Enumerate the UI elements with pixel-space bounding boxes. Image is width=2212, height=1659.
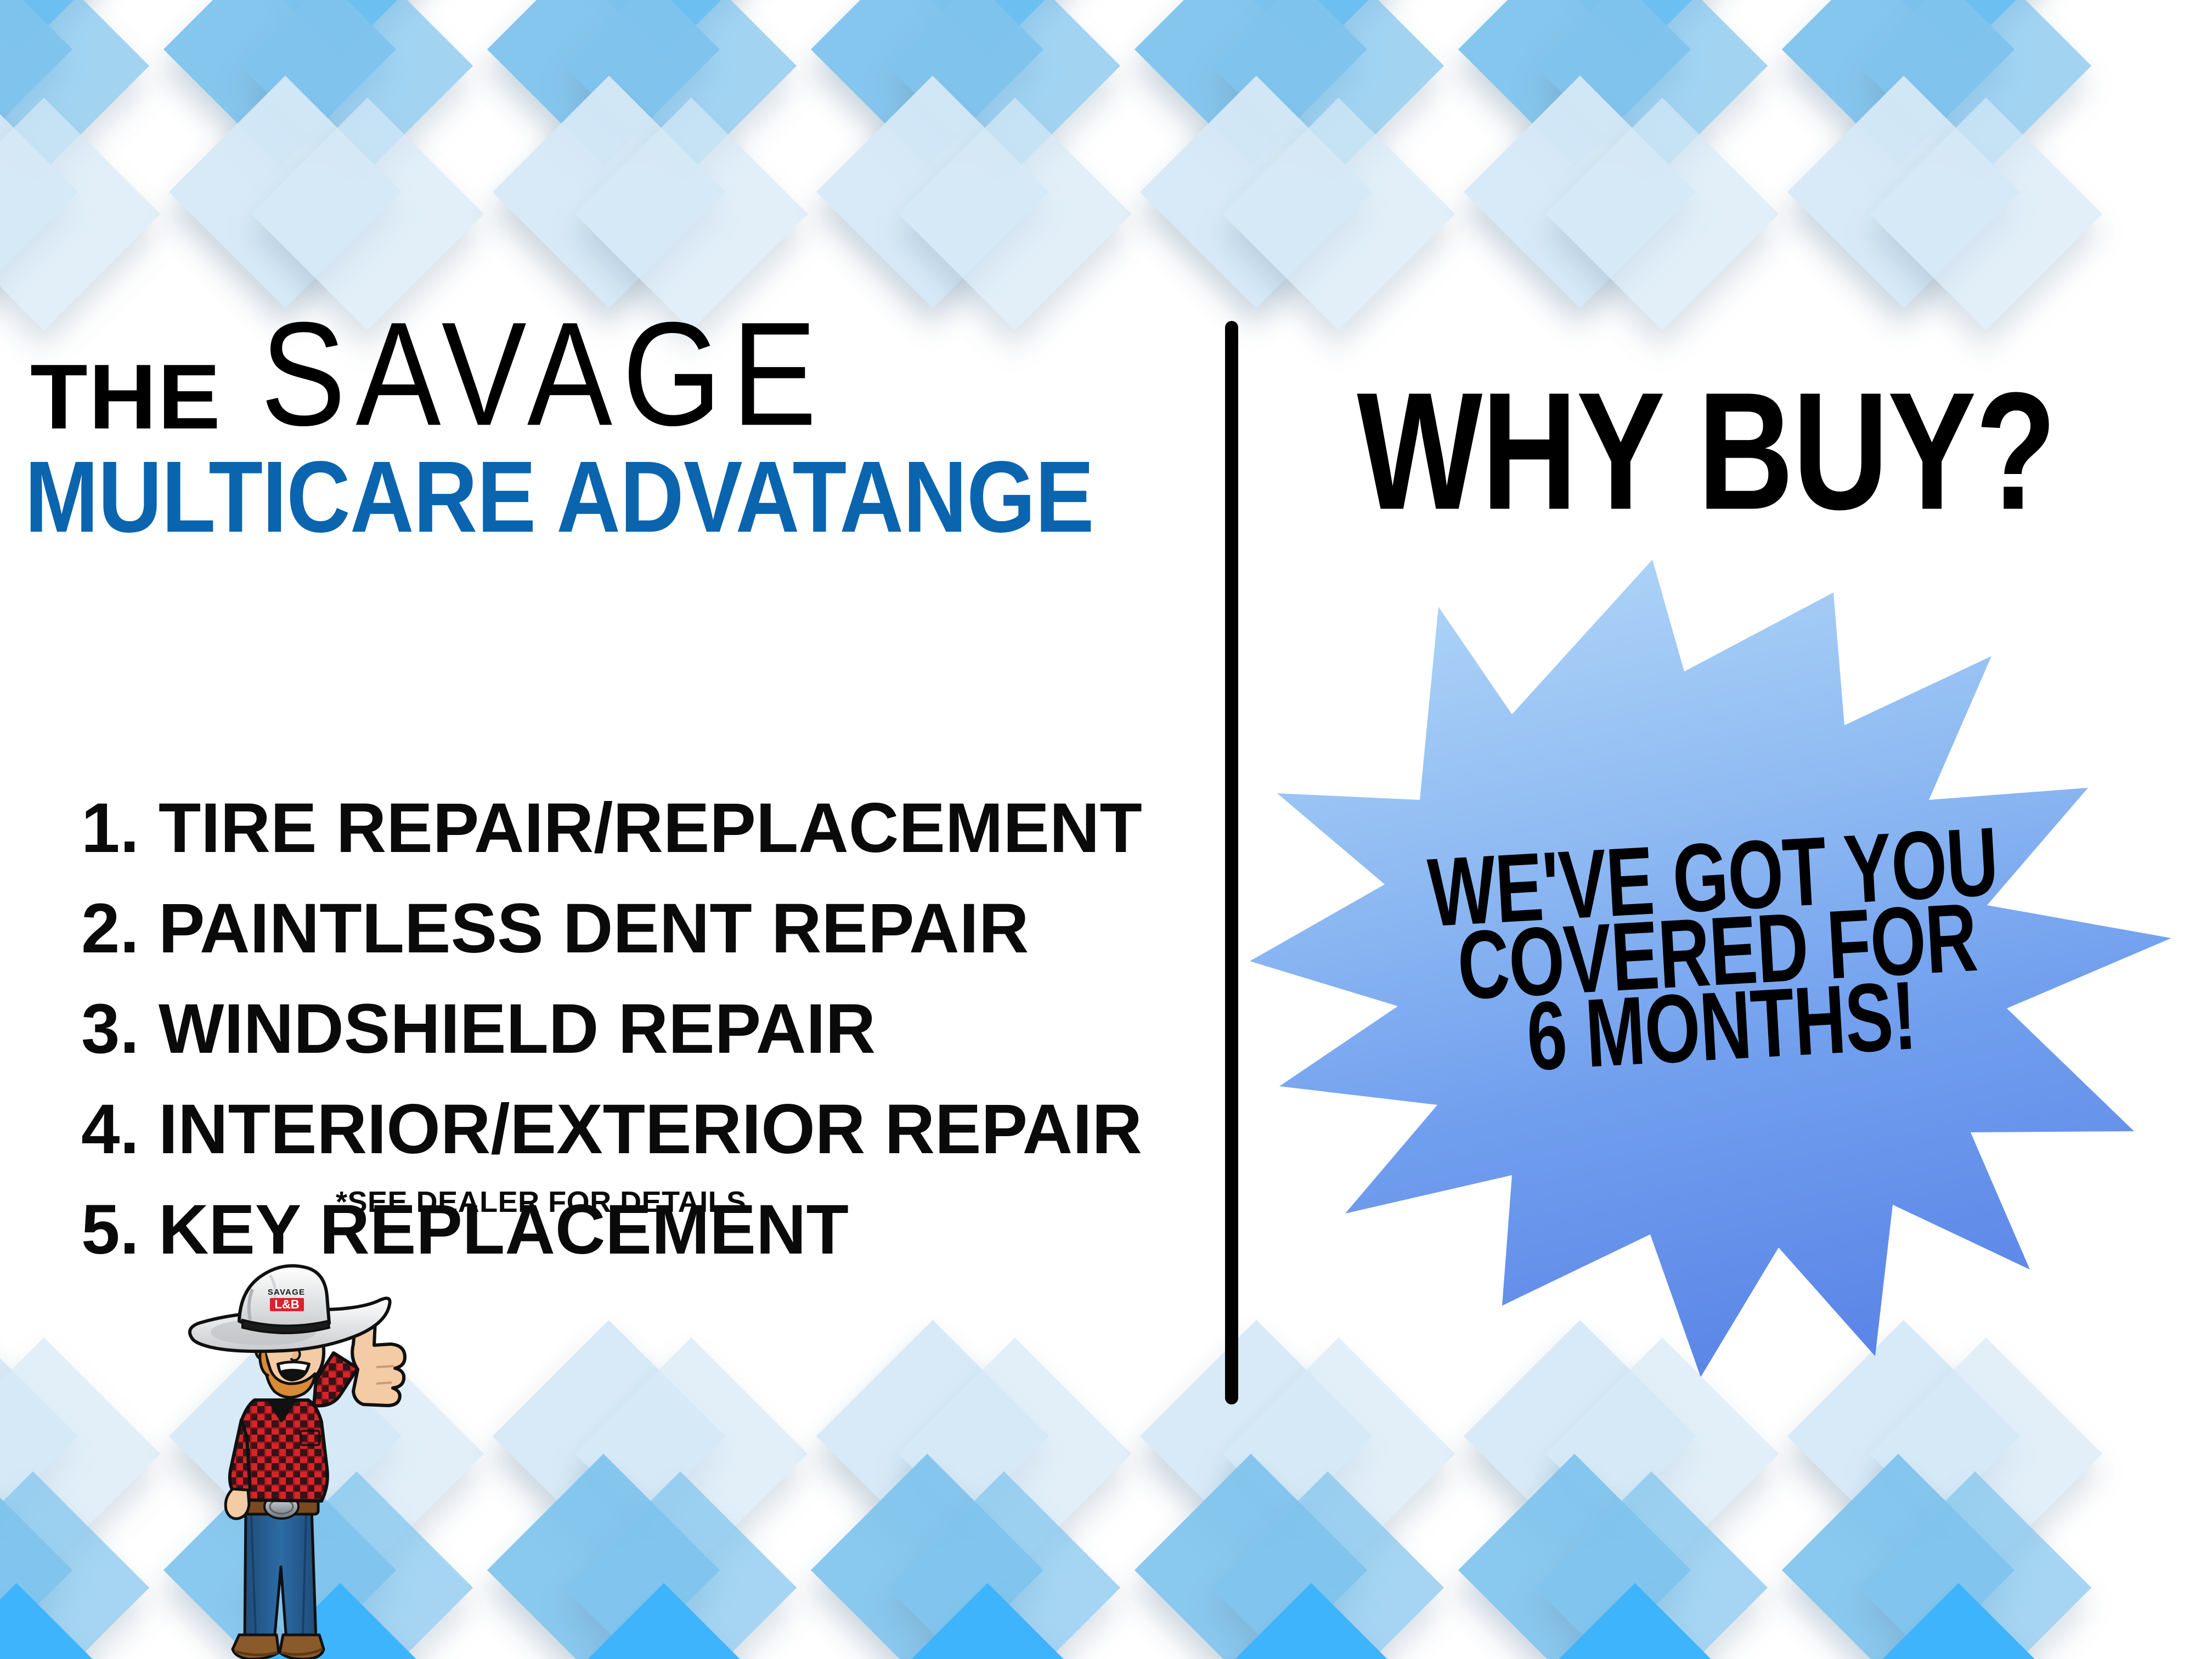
starburst-shape — [1245, 554, 2189, 1377]
starburst-polygon — [1250, 560, 2171, 1377]
hat-logo-top: SAVAGE — [268, 1288, 305, 1297]
list-item: 3. WINDSHIELD REPAIR — [81, 979, 1142, 1079]
promo-poster: THE SAVAGE MULTICARE ADVATANGE 1. TIRE R… — [0, 0, 2212, 1659]
mascot-left-hand — [225, 1489, 249, 1519]
brand-title: THE SAVAGE — [30, 323, 1160, 438]
right-panel: WHY BUY? WE'VE GOT YOU COVERED FOR 6 MON… — [1240, 0, 2212, 1659]
title-the-word: THE — [30, 357, 222, 438]
disclaimer-text: *SEE DEALER FOR DETAILS — [336, 1185, 747, 1219]
title-subtitle: MULTICARE ADVATANGE — [25, 449, 1094, 545]
hat-logo-main: L&B — [274, 1297, 299, 1311]
why-buy-headline: WHY BUY? — [1254, 368, 2159, 535]
title-brand-word: SAVAGE — [261, 311, 827, 438]
starburst-svg — [1245, 554, 2189, 1377]
list-item: 4. INTERIOR/EXTERIOR REPAIR — [81, 1079, 1142, 1180]
mascot-jeans — [245, 1509, 316, 1640]
vertical-divider — [1225, 321, 1238, 1404]
left-panel: THE SAVAGE MULTICARE ADVATANGE 1. TIRE R… — [0, 0, 1223, 1659]
savage-cowboy-mascot-icon: SAVAGE L&B — [165, 1256, 439, 1659]
list-item: 2. PAINTLESS DENT REPAIR — [81, 878, 1142, 979]
mascot-boots — [233, 1635, 324, 1659]
list-item: 1. TIRE REPAIR/REPLACEMENT — [81, 778, 1142, 878]
